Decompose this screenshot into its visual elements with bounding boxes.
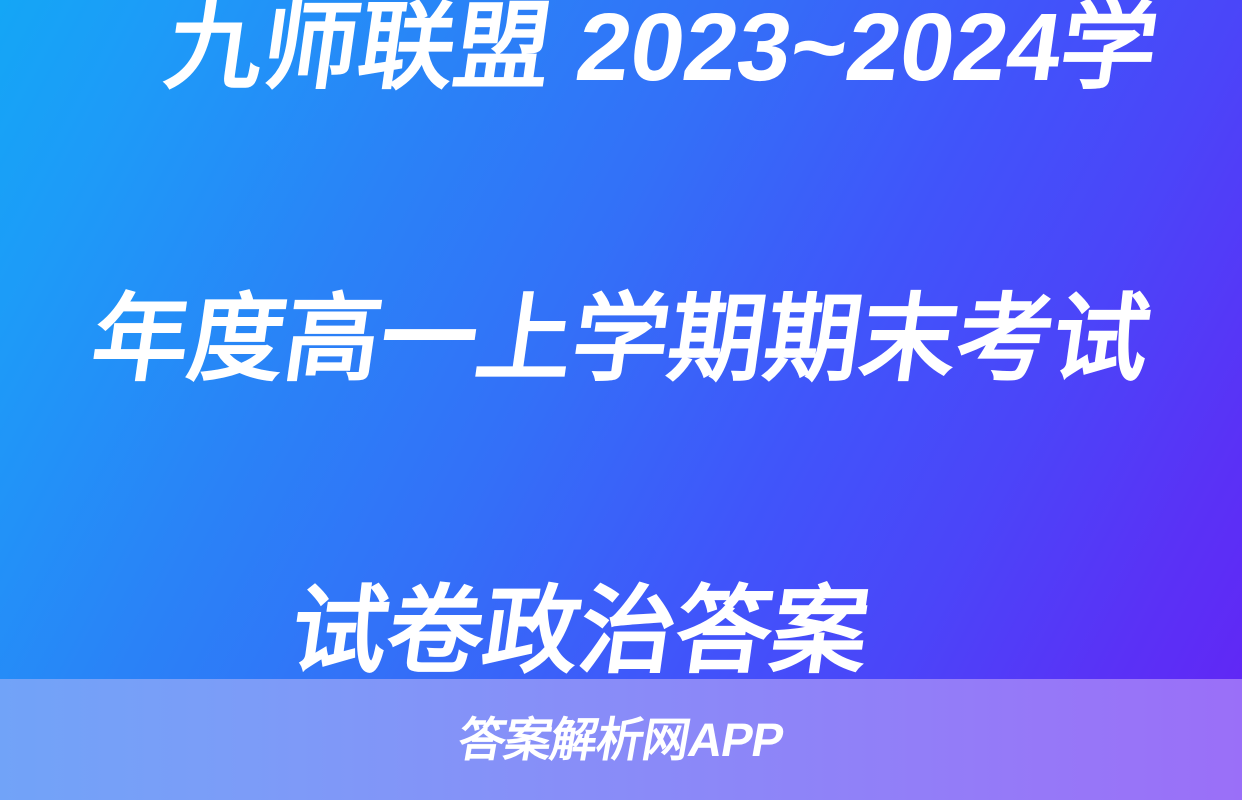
poster-root: 九师联盟 2023~2024学 年度高一上学期期末考试 试卷政治答案 答案解析网… [0,0,1242,800]
hero-gradient-banner: 九师联盟 2023~2024学 年度高一上学期期末考试 试卷政治答案 [0,0,1242,679]
page-title-line-1: 九师联盟 2023~2024学 [97,0,1228,121]
footer-watermark-band: 答案解析网APP [0,679,1242,800]
app-watermark-label: 答案解析网APP [455,716,787,763]
page-title-line-2: 年度高一上学期期末考试 [56,267,1187,413]
